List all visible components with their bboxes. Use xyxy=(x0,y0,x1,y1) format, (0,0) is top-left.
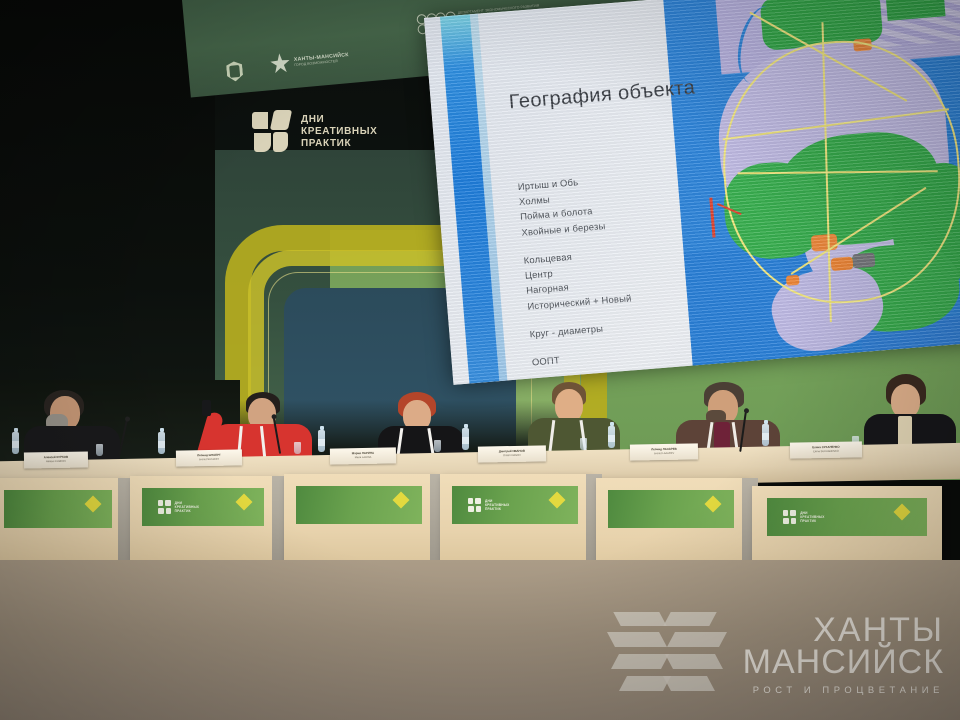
conference-photo: ХАНТЫ-МАНСИЙСК ГОРОД ВОЗМОЖНОСТЕЙ ДЕПАРТ… xyxy=(0,0,960,720)
brand-line3: ПРАКТИК xyxy=(301,138,377,150)
drinking-glass xyxy=(580,438,587,450)
city-emblem-icon xyxy=(226,61,244,82)
desk-logo-icon xyxy=(468,498,481,512)
brand-line2: КРЕАТИВНЫХ xyxy=(301,126,377,138)
nameplate-2-en: Leonid SHTAERT xyxy=(199,458,219,462)
watermark-tagline: РОСТ И ПРОЦВЕТАНИЕ xyxy=(743,685,944,694)
city-emblem-logo xyxy=(226,61,244,82)
nameplate-1-en: Aleksei KURKOV xyxy=(46,460,66,464)
desk-logo-icon xyxy=(783,510,796,524)
water-bottle xyxy=(608,426,615,448)
presentation-screen: География объекта Иртыш и Обь Холмы Пойм… xyxy=(424,0,960,385)
brand-mark-icon xyxy=(252,110,294,154)
slide-body: Иртыш и Обь Холмы Пойма и болота Хвойные… xyxy=(517,171,636,370)
nameplate-6-en: Elena SUKHANENKO xyxy=(813,450,839,454)
desk-4-line3: ПРАКТИК xyxy=(485,507,509,511)
nameplate-6: Елена СУХАНЕНКО Elena SUKHANENKO xyxy=(790,441,862,458)
nameplate-1: Алексей КУРКОВ Aleksei KURKOV xyxy=(24,451,88,468)
nameplate-5: Леонид ЛАЗАРЕВ Leonid LAZAREV xyxy=(630,443,698,460)
water-bottle xyxy=(318,430,325,452)
khanty-mansiysk-star-logo: ХАНТЫ-МАНСИЙСК ГОРОД ВОЗМОЖНОСТЕЙ xyxy=(269,47,350,74)
watermark-ornament-icon xyxy=(611,602,729,706)
brand-line1: ДНИ xyxy=(301,114,377,126)
nameplate-4: Дмитрий ИВАНОВ Dmitrii IVANOV xyxy=(478,445,546,462)
desk-2: ДНИ КРЕАТИВНЫХ ПРАКТИК xyxy=(130,476,276,568)
desk-logo-icon xyxy=(158,500,171,514)
desk-2-line3: ПРАКТИК xyxy=(175,509,199,513)
drinking-glass xyxy=(434,440,441,452)
wall-brand-logo: ДНИ КРЕАТИВНЫХ ПРАКТИК xyxy=(252,110,377,154)
nameplate-3: Мария ЛАРИНА Maria LARINA xyxy=(330,447,396,464)
water-bottle xyxy=(762,424,769,446)
water-bottle xyxy=(158,432,165,454)
water-bottle xyxy=(462,428,469,450)
watermark-line2: МАНСИЙСК xyxy=(743,646,944,679)
desk-3 xyxy=(284,474,434,566)
desk-6-line3: ПРАКТИК xyxy=(800,519,824,523)
desk-1 xyxy=(0,478,122,570)
nameplate-2: Леонид ШТАЕРТ Leonid SHTAERT xyxy=(176,449,242,466)
desk-4: ДНИ КРЕАТИВНЫХ ПРАКТИК xyxy=(440,474,590,566)
nameplate-3-en: Maria LARINA xyxy=(355,456,372,460)
watermark-line1: ХАНТЫ xyxy=(743,614,944,647)
drinking-glass xyxy=(96,444,103,456)
drinking-glass xyxy=(294,442,301,454)
nameplate-5-en: Leonid LAZAREV xyxy=(654,452,674,456)
nameplate-4-en: Dmitrii IVANOV xyxy=(503,454,521,458)
water-bottle xyxy=(12,432,19,454)
watermark: ХАНТЫ МАНСИЙСК РОСТ И ПРОЦВЕТАНИЕ xyxy=(611,602,944,706)
slide-city-map xyxy=(663,0,960,366)
phone-icon xyxy=(202,400,211,416)
star-icon xyxy=(269,52,291,74)
